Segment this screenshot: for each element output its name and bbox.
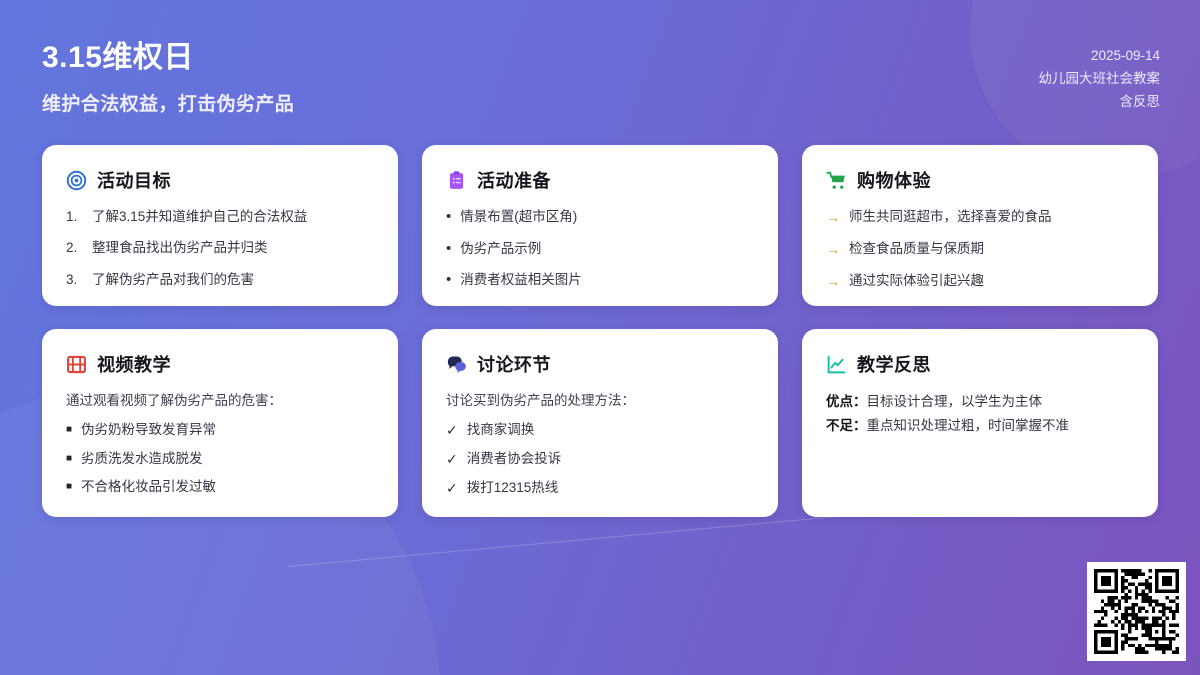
card-header: 购物体验 bbox=[826, 167, 1136, 193]
page-title: 3.15维权日 bbox=[42, 40, 294, 76]
slide-root: 3.15维权日 维护合法权益，打击伪劣产品 2025-09-14 幼儿园大班社会… bbox=[0, 0, 1200, 675]
qr-code bbox=[1094, 569, 1179, 654]
card-preparation[interactable]: 活动准备 • 情景布置(超市区角) • 伪劣产品示例 • 消费者权益相关图片 bbox=[422, 145, 778, 306]
line-chart-icon bbox=[826, 354, 847, 375]
list-marker-arrow: → bbox=[826, 239, 840, 260]
list-marker-check: ✓ bbox=[446, 449, 458, 470]
list-item-text: 整理食品找出伪劣产品并归类 bbox=[92, 238, 268, 258]
list-marker-dot: • bbox=[446, 239, 451, 260]
preparation-list: • 情景布置(超市区角) • 伪劣产品示例 • 消费者权益相关图片 bbox=[446, 207, 756, 291]
card-title: 活动准备 bbox=[477, 167, 551, 193]
list-item: ■ 不合格化妆品引发过敏 bbox=[66, 477, 376, 497]
reflection-pros: 优点：目标设计合理，以学生为主体 bbox=[826, 391, 1136, 413]
list-item: • 情景布置(超市区角) bbox=[446, 207, 756, 228]
video-list: ■ 伪劣奶粉导致发育异常 ■ 劣质洗发水造成脱发 ■ 不合格化妆品引发过敏 bbox=[66, 420, 376, 497]
list-marker-square: ■ bbox=[66, 449, 72, 468]
list-item: ✓ 消费者协会投诉 bbox=[446, 449, 756, 470]
clipboard-icon bbox=[446, 170, 467, 191]
card-grid: 活动目标 1. 了解3.15并知道维护自己的合法权益 2. 整理食品找出伪劣产品… bbox=[42, 145, 1158, 517]
card-reflection[interactable]: 教学反思 优点：目标设计合理，以学生为主体 不足：重点知识处理过粗，时间掌握不准 bbox=[802, 329, 1158, 517]
list-item-text: 消费者协会投诉 bbox=[467, 449, 562, 469]
card-header: 视频教学 bbox=[66, 351, 376, 377]
list-marker-arrow: → bbox=[826, 271, 840, 292]
list-item-text: 不合格化妆品引发过敏 bbox=[81, 477, 216, 497]
card-header: 讨论环节 bbox=[446, 351, 756, 377]
card-title: 讨论环节 bbox=[477, 351, 551, 377]
card-discussion[interactable]: 讨论环节 讨论买到伪劣产品的处理方法： ✓ 找商家调换 ✓ 消费者协会投诉 ✓ … bbox=[422, 329, 778, 517]
list-item-text: 了解伪劣产品对我们的危害 bbox=[92, 270, 254, 290]
reflection-pros-text: 目标设计合理，以学生为主体 bbox=[867, 394, 1043, 409]
card-video-teaching[interactable]: 视频教学 通过观看视频了解伪劣产品的危害： ■ 伪劣奶粉导致发育异常 ■ 劣质洗… bbox=[42, 329, 398, 517]
list-item-text: 通过实际体验引起兴趣 bbox=[849, 271, 984, 291]
list-item: 2. 整理食品找出伪劣产品并归类 bbox=[66, 238, 376, 258]
list-marker-number: 3. bbox=[66, 270, 83, 290]
list-item-text: 伪劣产品示例 bbox=[460, 239, 541, 259]
list-item: → 检查食品质量与保质期 bbox=[826, 239, 1136, 260]
title-block: 3.15维权日 维护合法权益，打击伪劣产品 bbox=[42, 40, 294, 116]
decorative-diagonal-line bbox=[288, 513, 866, 567]
meta-note: 含反思 bbox=[1039, 90, 1161, 113]
list-marker-square: ■ bbox=[66, 420, 72, 439]
list-item: • 消费者权益相关图片 bbox=[446, 270, 756, 291]
list-item: 3. 了解伪劣产品对我们的危害 bbox=[66, 270, 376, 290]
shopping-list: → 师生共同逛超市，选择喜爱的食品 → 检查食品质量与保质期 → 通过实际体验引… bbox=[826, 207, 1136, 292]
list-item-text: 师生共同逛超市，选择喜爱的食品 bbox=[849, 207, 1052, 227]
list-item-text: 了解3.15并知道维护自己的合法权益 bbox=[92, 207, 307, 227]
card-header: 教学反思 bbox=[826, 351, 1136, 377]
film-icon bbox=[66, 354, 87, 375]
list-marker-check: ✓ bbox=[446, 478, 458, 499]
list-item: ✓ 拨打12315热线 bbox=[446, 478, 756, 499]
card-title: 视频教学 bbox=[97, 351, 171, 377]
card-header: 活动准备 bbox=[446, 167, 756, 193]
list-item-text: 情景布置(超市区角) bbox=[460, 207, 577, 227]
list-item: • 伪劣产品示例 bbox=[446, 239, 756, 260]
list-marker-square: ■ bbox=[66, 477, 72, 496]
meta-category: 幼儿园大班社会教案 bbox=[1039, 67, 1161, 90]
list-marker-dot: • bbox=[446, 207, 451, 228]
list-item-text: 拨打12315热线 bbox=[467, 478, 559, 498]
list-item-text: 劣质洗发水造成脱发 bbox=[81, 449, 203, 469]
qr-code-container[interactable] bbox=[1087, 562, 1186, 661]
list-marker-number: 1. bbox=[66, 207, 83, 227]
card-objectives[interactable]: 活动目标 1. 了解3.15并知道维护自己的合法权益 2. 整理食品找出伪劣产品… bbox=[42, 145, 398, 306]
reflection-cons-text: 重点知识处理过粗，时间掌握不准 bbox=[867, 418, 1070, 433]
list-item-text: 找商家调换 bbox=[467, 420, 535, 440]
card-lead-text: 通过观看视频了解伪劣产品的危害： bbox=[66, 391, 376, 411]
objectives-list: 1. 了解3.15并知道维护自己的合法权益 2. 整理食品找出伪劣产品并归类 3… bbox=[66, 207, 376, 290]
reflection-cons: 不足：重点知识处理过粗，时间掌握不准 bbox=[826, 415, 1136, 437]
list-item: 1. 了解3.15并知道维护自己的合法权益 bbox=[66, 207, 376, 227]
list-item-text: 伪劣奶粉导致发育异常 bbox=[81, 420, 216, 440]
list-marker-check: ✓ bbox=[446, 420, 458, 441]
header-meta: 2025-09-14 幼儿园大班社会教案 含反思 bbox=[1039, 40, 1161, 114]
card-shopping-experience[interactable]: 购物体验 → 师生共同逛超市，选择喜爱的食品 → 检查食品质量与保质期 → 通过… bbox=[802, 145, 1158, 306]
discussion-list: ✓ 找商家调换 ✓ 消费者协会投诉 ✓ 拨打12315热线 bbox=[446, 420, 756, 499]
card-lead-text: 讨论买到伪劣产品的处理方法： bbox=[446, 391, 756, 411]
list-item: → 通过实际体验引起兴趣 bbox=[826, 271, 1136, 292]
target-icon bbox=[66, 170, 87, 191]
reflection-cons-label: 不足： bbox=[826, 418, 867, 433]
list-item-text: 检查食品质量与保质期 bbox=[849, 239, 984, 259]
card-header: 活动目标 bbox=[66, 167, 376, 193]
card-title: 教学反思 bbox=[857, 351, 931, 377]
slide-header: 3.15维权日 维护合法权益，打击伪劣产品 2025-09-14 幼儿园大班社会… bbox=[0, 0, 1200, 140]
list-marker-dot: • bbox=[446, 270, 451, 291]
list-item-text: 消费者权益相关图片 bbox=[460, 270, 582, 290]
shopping-cart-icon bbox=[826, 170, 847, 191]
list-item: ■ 伪劣奶粉导致发育异常 bbox=[66, 420, 376, 440]
list-item: ■ 劣质洗发水造成脱发 bbox=[66, 449, 376, 469]
list-item: → 师生共同逛超市，选择喜爱的食品 bbox=[826, 207, 1136, 228]
page-subtitle: 维护合法权益，打击伪劣产品 bbox=[42, 89, 294, 116]
list-marker-number: 2. bbox=[66, 238, 83, 258]
list-item: ✓ 找商家调换 bbox=[446, 420, 756, 441]
reflection-pros-label: 优点： bbox=[826, 394, 867, 409]
card-title: 购物体验 bbox=[857, 167, 931, 193]
speech-bubbles-icon bbox=[446, 354, 467, 375]
card-title: 活动目标 bbox=[97, 167, 171, 193]
meta-date: 2025-09-14 bbox=[1039, 44, 1161, 67]
list-marker-arrow: → bbox=[826, 207, 840, 228]
